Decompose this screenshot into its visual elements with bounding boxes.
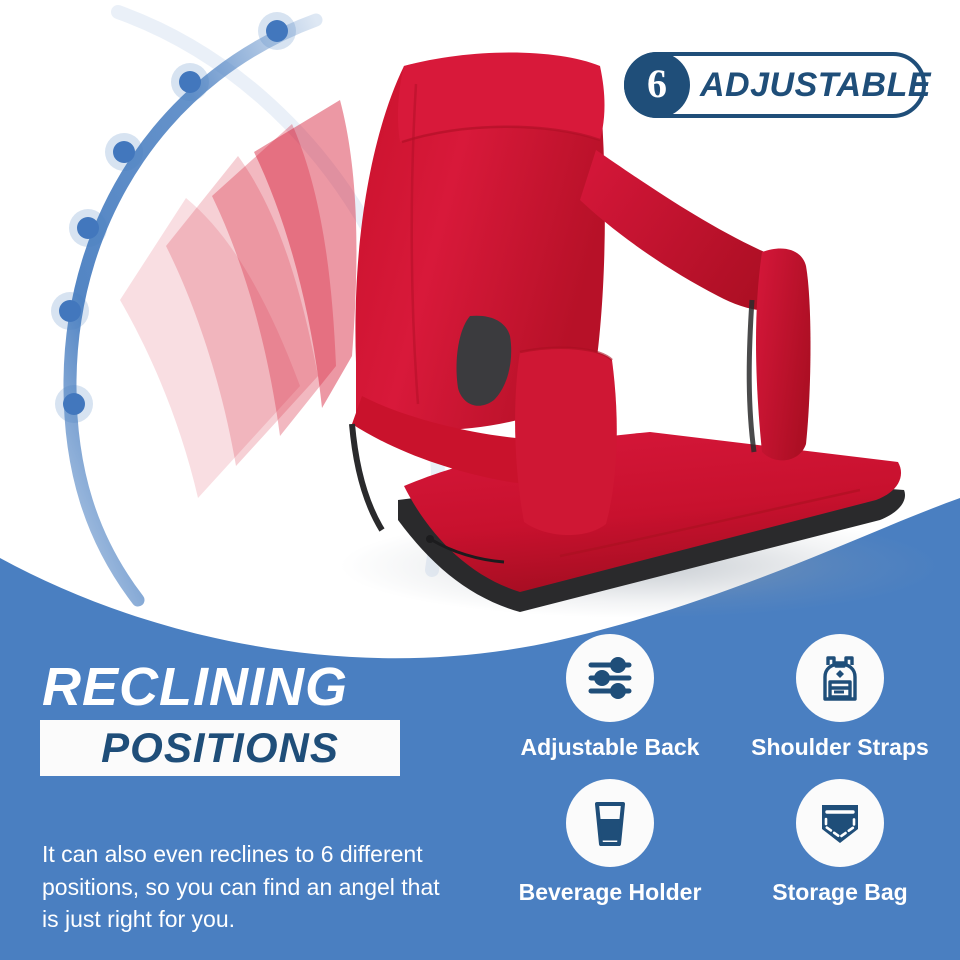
badge-number: 6	[647, 64, 667, 107]
feature-label: Shoulder Straps	[751, 734, 929, 761]
feature-item-shoulder-straps: Shoulder Straps	[730, 634, 950, 761]
headline-primary: RECLINING	[42, 660, 460, 714]
badge-label: ADJUSTABLE	[700, 56, 906, 114]
promo-graphic: 6 ADJUSTABLE RECLINING POSITIONS It can …	[0, 0, 960, 960]
feature-item-storage-bag: Storage Bag	[730, 779, 950, 906]
sliders-icon	[584, 652, 636, 704]
feature-label: Storage Bag	[772, 879, 907, 906]
feature-label: Beverage Holder	[519, 879, 702, 906]
backpack-icon	[814, 652, 866, 704]
feature-item-beverage-holder: Beverage Holder	[500, 779, 720, 906]
feature-icon-badge	[566, 779, 654, 867]
drinking-glass-icon	[584, 797, 636, 849]
adjustable-badge: 6 ADJUSTABLE	[624, 52, 926, 118]
headline-banner: POSITIONS	[40, 720, 400, 776]
feature-item-adjustable-back: Adjustable Back	[500, 634, 720, 761]
body-paragraph: It can also even reclines to 6 different…	[42, 838, 442, 936]
feature-icon-badge	[566, 634, 654, 722]
headline-secondary: POSITIONS	[101, 727, 339, 769]
headline-block: RECLINING POSITIONS	[40, 660, 460, 776]
badge-number-circle: 6	[624, 52, 690, 118]
feature-icon-badge	[796, 779, 884, 867]
feature-label: Adjustable Back	[521, 734, 700, 761]
feature-grid: Adjustable Back Shoulder St	[500, 634, 950, 906]
jeans-pocket-icon	[814, 797, 866, 849]
feature-icon-badge	[796, 634, 884, 722]
